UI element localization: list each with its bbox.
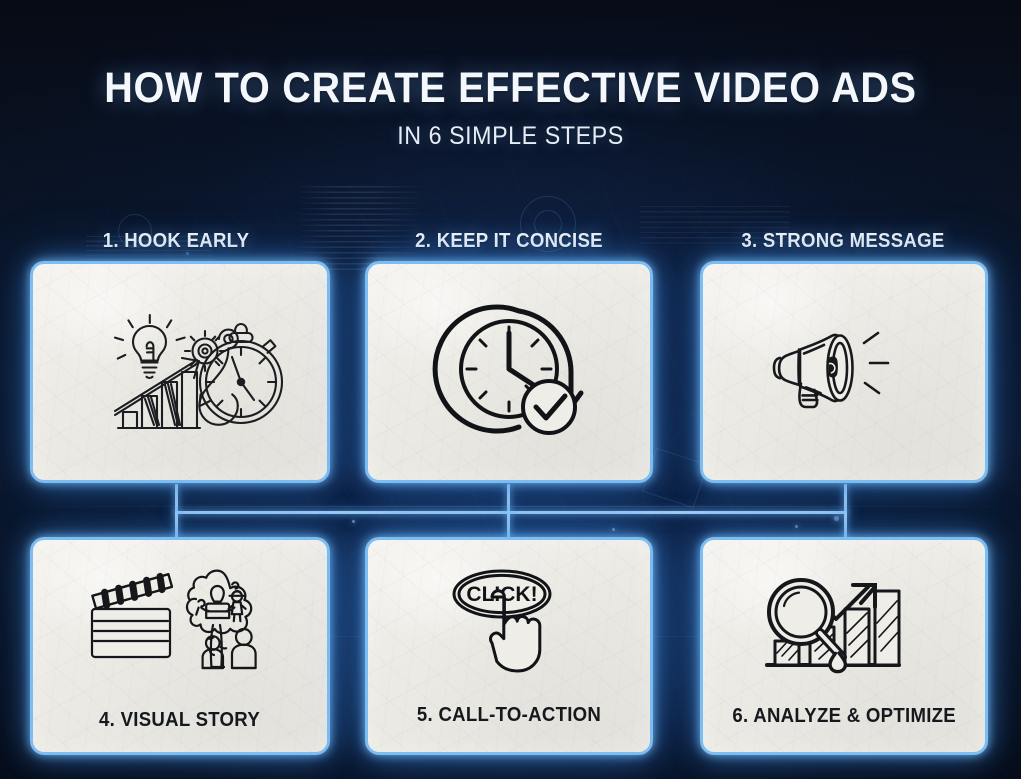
analyze-optimize-artwork [749, 565, 939, 683]
lightbulb-icon [115, 315, 185, 378]
connector-horizontal [175, 511, 847, 514]
page-title: HOW TO CREATE EFFECTIVE VIDEO ADS [41, 64, 980, 113]
check-circle-icon [523, 381, 575, 433]
sound-lines-icon [864, 333, 888, 393]
page-subtitle: IN 6 SIMPLE STEPS [36, 122, 986, 151]
step-card-analyze-optimize[interactable]: 6. ANALYZE & OPTIMIZE [700, 537, 988, 755]
connector-stub-step3 [844, 484, 847, 513]
storyteller-figure [201, 586, 234, 618]
connector-stub-step5 [507, 511, 510, 539]
visual-story-artwork [80, 565, 280, 683]
strong-message-artwork [744, 307, 944, 437]
clapperboard-icon [92, 574, 172, 657]
step-label-strong-message: 3. STRONG MESSAGE [721, 230, 965, 253]
thought-child-figure [229, 591, 246, 621]
step-label-analyze-optimize: 6. ANALYZE & OPTIMIZE [732, 705, 956, 728]
step-card-hook-early[interactable] [30, 261, 330, 483]
hook-early-artwork [76, 306, 284, 438]
megaphone-icon [774, 335, 853, 407]
step-label-visual-story: 4. VISUAL STORY [100, 709, 261, 732]
call-to-action-artwork: CLICK! [430, 568, 588, 680]
infographic-canvas: HOW TO CREATE EFFECTIVE VIDEO ADS IN 6 S… [0, 0, 1021, 779]
connector-stub-step2 [507, 484, 510, 513]
keep-it-concise-artwork [419, 297, 599, 447]
step-label-hook-early: 1. HOOK EARLY [54, 230, 298, 253]
horizon-beam [0, 506, 1021, 507]
bar-chart-arrow-icon [115, 358, 200, 428]
spark-dot [612, 528, 615, 531]
step-card-visual-story[interactable]: 4. VISUAL STORY [30, 537, 330, 755]
step-label-keep-it-concise: 2. KEEP IT CONCISE [387, 230, 631, 253]
step-card-strong-message[interactable] [700, 261, 988, 483]
connector-stub-step4 [175, 511, 178, 539]
spark-dot [834, 516, 839, 521]
connector-stub-step1 [175, 484, 178, 513]
spark-dot [352, 520, 355, 523]
storyteller-tree-icon [187, 570, 251, 666]
connector-stub-step6 [844, 511, 847, 539]
step-card-call-to-action[interactable]: CLICK! 5. CALL-TO-ACTION [365, 537, 653, 755]
step-label-call-to-action: 5. CALL-TO-ACTION [417, 704, 601, 727]
step-card-keep-it-concise[interactable] [365, 261, 653, 483]
header: HOW TO CREATE EFFECTIVE VIDEO ADS IN 6 S… [0, 64, 1021, 151]
code-texture [300, 186, 420, 272]
spark-dot [795, 525, 798, 528]
